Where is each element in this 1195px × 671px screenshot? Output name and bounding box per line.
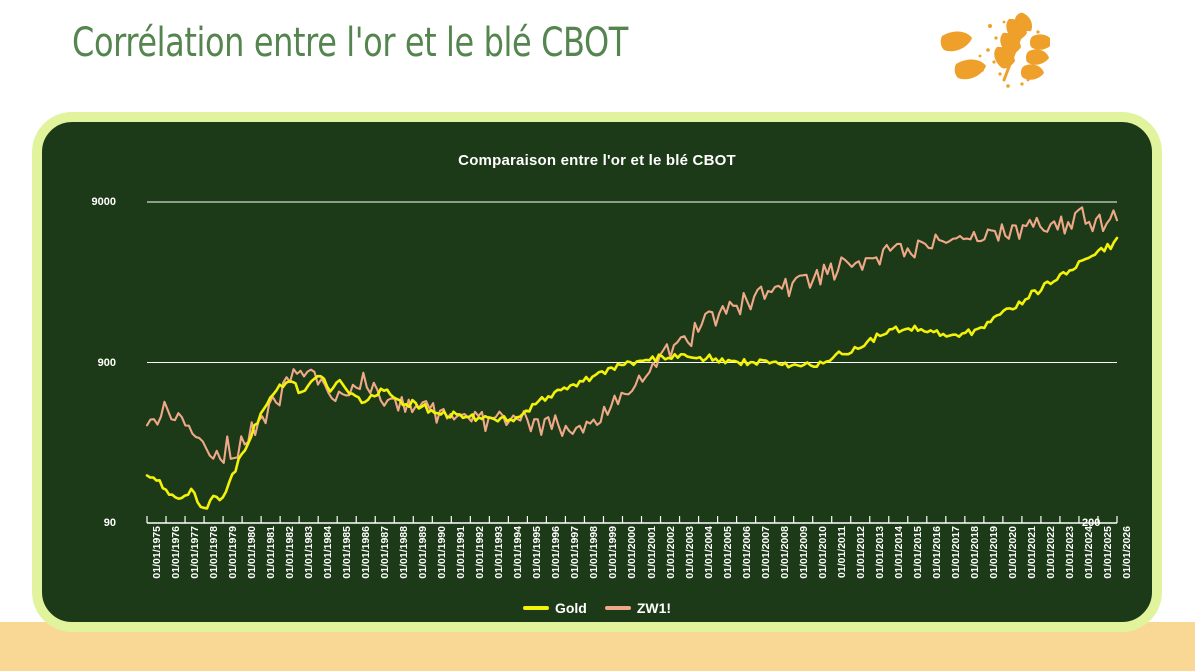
x-axis-tick-label: 01/01/2021 — [1026, 526, 1038, 579]
x-axis-tick-label: 01/01/2015 — [912, 526, 924, 579]
x-axis-tick-label: 01/01/2022 — [1045, 526, 1057, 579]
chart-legend: Gold ZW1! — [42, 600, 1152, 616]
x-axis-tick-label: 01/01/2019 — [988, 526, 1000, 579]
x-axis-tick-label: 01/01/2003 — [684, 526, 696, 579]
plot-area: Comparaison entre l'or et le blé CBOT 90… — [42, 122, 1152, 622]
x-axis-tick-label: 01/01/2024 — [1083, 526, 1095, 579]
x-axis-tick-label: 01/01/2001 — [646, 526, 658, 579]
x-axis-tick-label: 01/01/1977 — [189, 526, 201, 579]
x-axis-tick-label: 01/01/1992 — [474, 526, 486, 579]
x-axis-tick-label: 01/01/1981 — [265, 526, 277, 579]
x-axis-tick-label: 01/01/1994 — [512, 526, 524, 579]
x-axis-tick-label: 01/01/1979 — [227, 526, 239, 579]
legend-item-zw1[interactable]: ZW1! — [605, 600, 671, 616]
x-axis-tick-label: 01/01/1996 — [550, 526, 562, 579]
x-axis-tick-label: 01/01/2002 — [665, 526, 677, 579]
x-axis-tick-label: 01/01/1993 — [493, 526, 505, 579]
x-axis-tick-label: 01/01/1976 — [170, 526, 182, 579]
legend-item-gold[interactable]: Gold — [523, 600, 587, 616]
x-axis-tick-label: 01/01/1990 — [436, 526, 448, 579]
x-axis-tick-label: 01/01/1987 — [379, 526, 391, 579]
x-axis-tick-label: 01/01/1975 — [151, 526, 163, 579]
x-axis-tick-label: 01/01/1991 — [455, 526, 467, 579]
x-axis-tick-label: 01/01/1984 — [322, 526, 334, 579]
x-axis-tick-label: 01/01/2008 — [779, 526, 791, 579]
x-axis-tick-label: 01/01/2016 — [931, 526, 943, 579]
x-axis-tick-label: 01/01/2000 — [626, 526, 638, 579]
x-axis-tick-label: 01/01/2011 — [836, 526, 848, 578]
line-chart-svg — [42, 122, 1152, 542]
x-axis-tick-label: 01/01/1978 — [208, 526, 220, 579]
x-axis-tick-label: 01/01/2018 — [969, 526, 981, 579]
x-axis-tick-label: 01/01/2007 — [760, 526, 772, 579]
legend-swatch-gold — [523, 606, 549, 610]
x-axis-ticks — [147, 516, 1117, 523]
x-axis-tick-label: 01/01/2005 — [722, 526, 734, 579]
x-axis-tick-label: 01/01/1989 — [417, 526, 429, 579]
x-axis-tick-label: 01/01/2012 — [855, 526, 867, 579]
x-axis-tick-label: 01/01/1988 — [398, 526, 410, 579]
x-axis-tick-label: 01/01/2010 — [817, 526, 829, 579]
x-axis-tick-label: 01/01/1999 — [607, 526, 619, 579]
legend-label-zw1: ZW1! — [637, 600, 671, 616]
x-axis-tick-label: 01/01/2023 — [1064, 526, 1076, 579]
x-axis-tick-label: 01/01/2026 — [1121, 526, 1133, 579]
legend-label-gold: Gold — [555, 600, 587, 616]
x-axis-tick-label: 01/01/1985 — [341, 526, 353, 579]
x-axis-tick-label: 01/01/2013 — [874, 526, 886, 579]
x-axis-tick-label: 01/01/2009 — [798, 526, 810, 579]
x-axis-tick-label: 01/01/2004 — [703, 526, 715, 579]
x-axis-tick-label: 01/01/1997 — [569, 526, 581, 579]
x-axis-tick-label: 01/01/1998 — [588, 526, 600, 579]
x-axis-tick-label: 01/01/1982 — [284, 526, 296, 579]
x-axis-tick-label: 01/01/1980 — [246, 526, 258, 579]
x-axis-tick-label: 01/01/2025 — [1102, 526, 1114, 579]
page-title: Corrélation entre l'or et le blé CBOT — [72, 20, 628, 66]
wheat-icon — [930, 8, 1050, 94]
chart-card: Comparaison entre l'or et le blé CBOT 90… — [32, 112, 1162, 632]
x-axis-tick-label: 01/01/1983 — [303, 526, 315, 579]
x-axis-tick-label: 01/01/2020 — [1007, 526, 1019, 579]
x-axis-tick-label: 01/01/2017 — [950, 526, 962, 579]
x-axis-tick-label: 01/01/1995 — [531, 526, 543, 579]
legend-swatch-zw1 — [605, 606, 631, 610]
x-axis-tick-label: 01/01/1986 — [360, 526, 372, 579]
x-axis-tick-label: 01/01/2014 — [893, 526, 905, 579]
x-axis-tick-label: 01/01/2006 — [741, 526, 753, 579]
